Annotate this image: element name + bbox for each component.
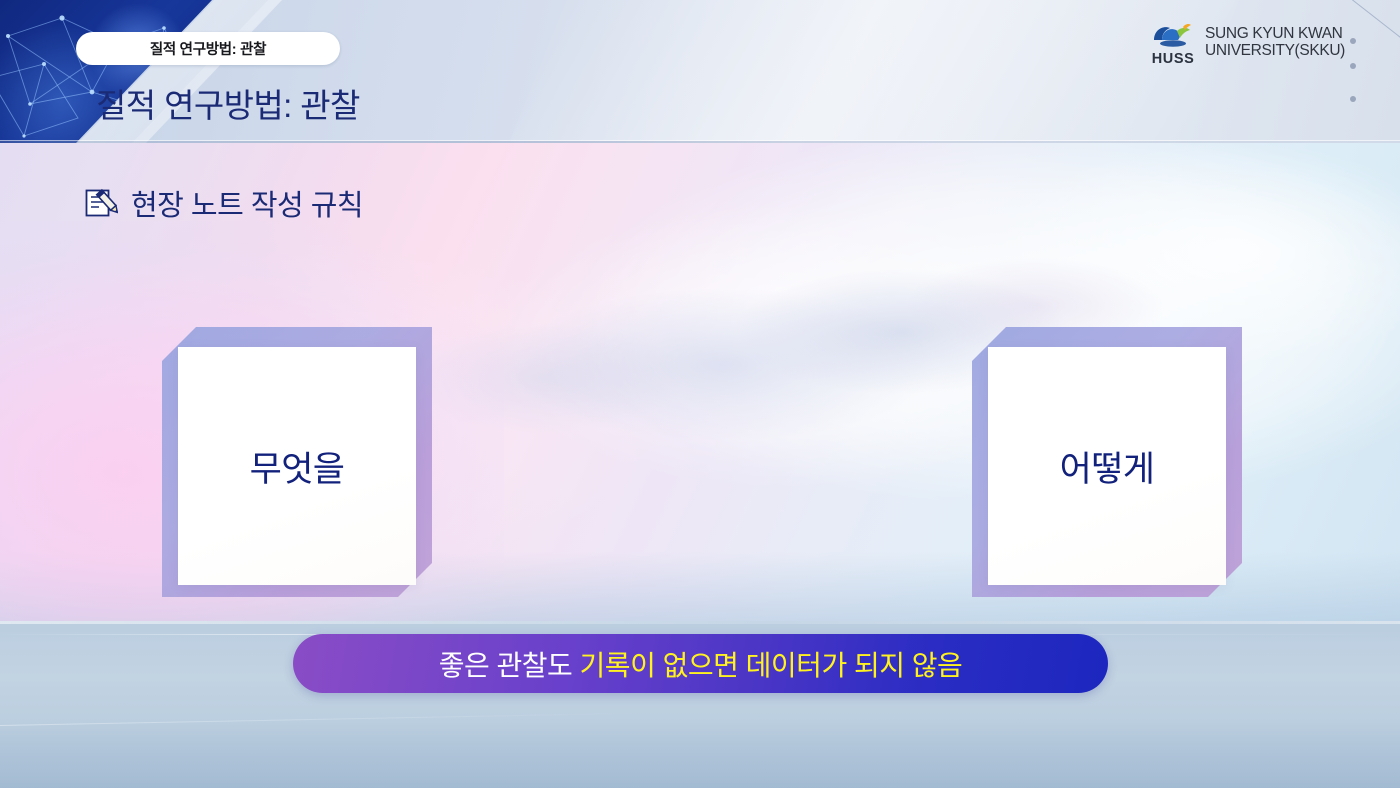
huss-wordmark: HUSS	[1150, 52, 1196, 67]
slide: 질적 연구방법: 관찰 질적 연구방법: 관찰 HUSS SUNG KYUN K…	[0, 0, 1400, 788]
brand-logo-lockup: HUSS SUNG KYUN KWAN UNIVERSITY(SKKU)	[1150, 21, 1345, 64]
key-message-text: 좋은 관찰도 기록이 없으면 데이터가 되지 않음	[439, 644, 963, 684]
card-label: 어떻게	[1060, 441, 1155, 492]
header-divider-light	[0, 140, 1400, 141]
concept-card-how[interactable]: 어떻게	[972, 327, 1242, 597]
header-dot-2	[1350, 63, 1356, 69]
huss-logo-mark: HUSS	[1150, 21, 1196, 64]
card-face: 무엇을	[178, 347, 416, 585]
header-shine-overlay	[474, 0, 1262, 143]
concept-card-what[interactable]: 무엇을	[162, 327, 432, 597]
card-face: 어떻게	[988, 347, 1226, 585]
header-dot-1	[1350, 38, 1356, 44]
section-heading-text: 현장 노트 작성 규칙	[131, 182, 363, 224]
header-dot-3	[1350, 96, 1356, 102]
breadcrumb-pill[interactable]: 질적 연구방법: 관찰	[76, 32, 340, 65]
memo-pencil-icon	[84, 186, 118, 220]
university-wordmark: SUNG KYUN KWAN UNIVERSITY(SKKU)	[1205, 26, 1345, 59]
key-message-highlight: 기록이 없으면 데이터가 되지 않음	[580, 650, 963, 681]
page-title: 질적 연구방법: 관찰	[96, 79, 360, 127]
section-heading-row: 현장 노트 작성 규칙	[84, 182, 363, 224]
key-message-lead: 좋은 관찰도	[439, 650, 580, 681]
key-message-banner: 좋은 관찰도 기록이 없으면 데이터가 되지 않음	[293, 634, 1108, 693]
header-divider-rule	[0, 141, 1400, 143]
card-label: 무엇을	[250, 441, 345, 492]
university-name-line1: SUNG KYUN KWAN	[1205, 26, 1345, 42]
header-decor-dots	[1350, 38, 1356, 88]
university-name-line2: UNIVERSITY(SKKU)	[1205, 43, 1345, 59]
slide-header: 질적 연구방법: 관찰 질적 연구방법: 관찰 HUSS SUNG KYUN K…	[0, 0, 1400, 143]
